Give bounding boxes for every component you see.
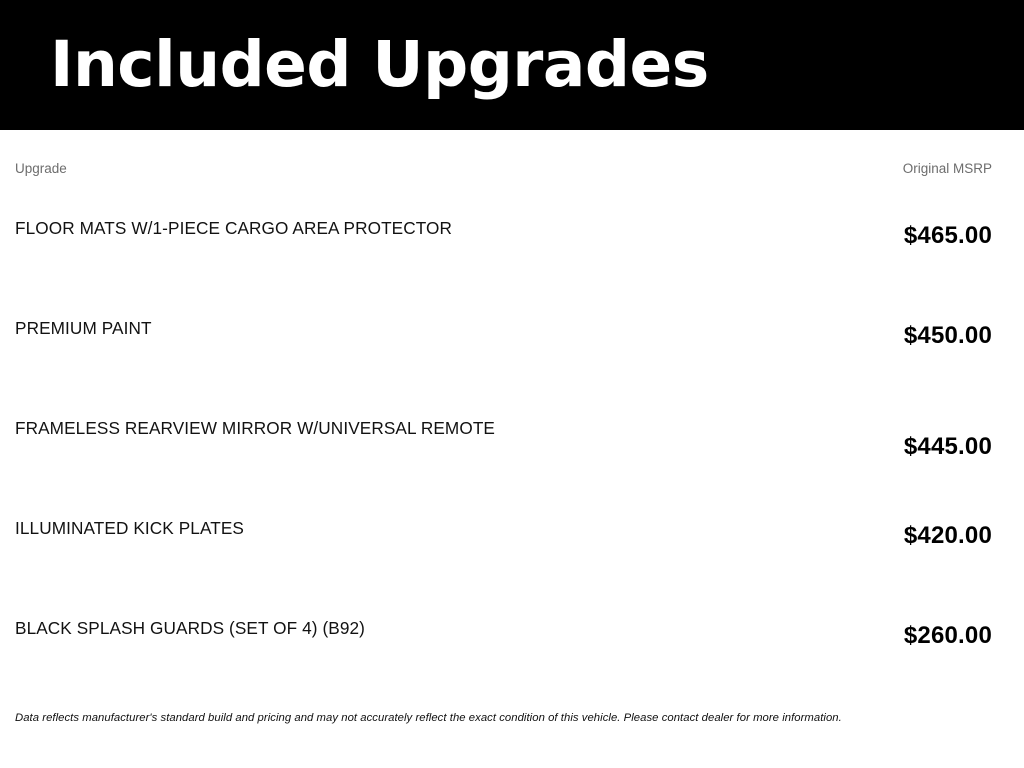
table-header-row: Upgrade Original MSRP bbox=[15, 160, 992, 178]
upgrade-name: FLOOR MATS W/1-PIECE CARGO AREA PROTECTO… bbox=[15, 217, 515, 240]
table-body: FLOOR MATS W/1-PIECE CARGO AREA PROTECTO… bbox=[0, 178, 1024, 678]
upgrade-name: ILLUMINATED KICK PLATES bbox=[15, 517, 515, 540]
upgrade-price: $465.00 bbox=[904, 221, 992, 250]
table-row: FLOOR MATS W/1-PIECE CARGO AREA PROTECTO… bbox=[0, 178, 1024, 278]
upgrade-name: BLACK SPLASH GUARDS (SET OF 4) (B92) bbox=[15, 617, 515, 640]
upgrade-name: PREMIUM PAINT bbox=[15, 317, 515, 340]
included-upgrades-page: Included Upgrades Upgrade Original MSRP … bbox=[0, 0, 1024, 768]
table-row: PREMIUM PAINT $450.00 bbox=[0, 278, 1024, 378]
page-title: Included Upgrades bbox=[50, 27, 709, 103]
table-row: FRAMELESS REARVIEW MIRROR W/UNIVERSAL RE… bbox=[0, 378, 1024, 478]
upgrade-price: $260.00 bbox=[904, 621, 992, 650]
table-row: ILLUMINATED KICK PLATES $420.00 bbox=[0, 478, 1024, 578]
upgrade-price: $420.00 bbox=[904, 521, 992, 550]
upgrades-table: Upgrade Original MSRP FLOOR MATS W/1-PIE… bbox=[0, 130, 1024, 768]
page-header-band: Included Upgrades bbox=[0, 0, 1024, 130]
column-header-original-msrp: Original MSRP bbox=[903, 160, 992, 178]
column-header-upgrade: Upgrade bbox=[15, 160, 67, 178]
upgrade-name: FRAMELESS REARVIEW MIRROR W/UNIVERSAL RE… bbox=[15, 417, 515, 440]
upgrade-price: $450.00 bbox=[904, 321, 992, 350]
table-row: BLACK SPLASH GUARDS (SET OF 4) (B92) $26… bbox=[0, 578, 1024, 678]
upgrade-price: $445.00 bbox=[904, 432, 992, 461]
disclaimer-text: Data reflects manufacturer's standard bu… bbox=[15, 710, 1009, 726]
